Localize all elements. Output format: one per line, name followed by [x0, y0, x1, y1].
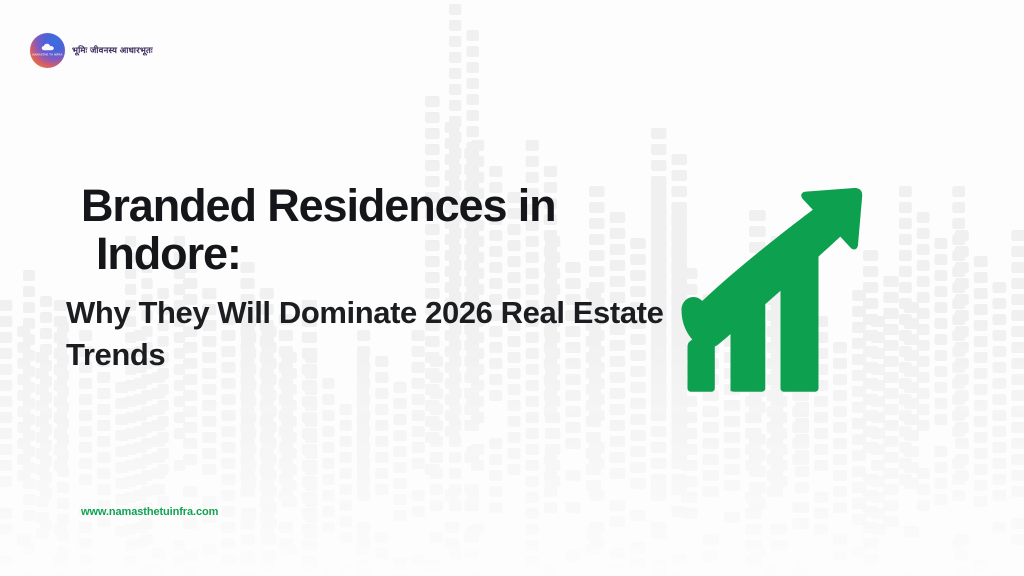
brand-tagline: भूमिः जीवनस्य आधारभूतः: [72, 45, 153, 56]
blog-banner: NAMASTHE TU INFRA भूमिः जीवनस्य आधारभूतः…: [0, 0, 1024, 576]
page-subtitle: Why They Will Dominate 2026 Real Estate …: [66, 292, 666, 374]
logo-gradient-circle-icon: NAMASTHE TU INFRA: [30, 33, 65, 68]
logo-micro-text: NAMASTHE TU INFRA: [32, 53, 62, 56]
cloud-icon: [41, 44, 54, 51]
headline-block: Branded Residences in Indore: Why They W…: [66, 182, 666, 375]
growth-arrow-bar-chart-icon: [676, 186, 876, 398]
page-title: Branded Residences in Indore:: [81, 182, 666, 278]
brand-logo[interactable]: NAMASTHE TU INFRA भूमिः जीवनस्य आधारभूतः: [30, 33, 153, 68]
website-url[interactable]: www.namasthetuinfra.com: [81, 506, 218, 518]
